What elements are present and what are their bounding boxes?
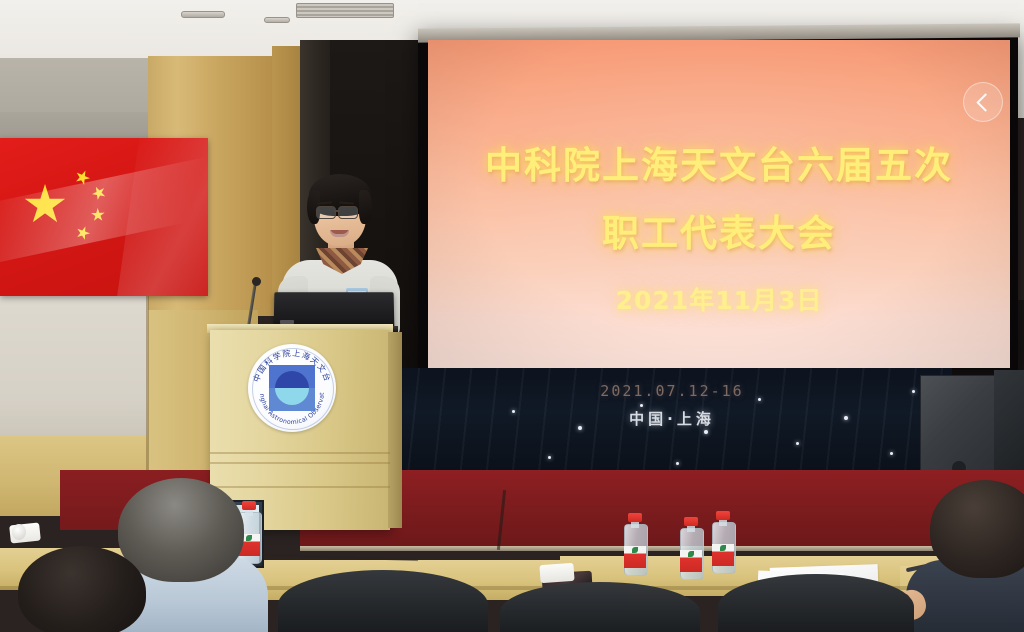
glasses-lens-left-icon: [316, 206, 336, 219]
backdrop-star-icon: [704, 430, 708, 434]
bottle-leaf-icon: [720, 545, 726, 551]
ceiling-vent-icon: [296, 3, 394, 18]
bottle-leaf-icon: [246, 535, 252, 541]
ceiling-light-small-icon: [264, 17, 290, 23]
backdrop-star-icon: [676, 462, 679, 465]
bottle-cap: [628, 513, 642, 522]
podium-groove: [210, 486, 390, 488]
presenter-hair-right: [359, 190, 372, 224]
microphone-head-icon: [252, 277, 261, 286]
backdrop-star-icon: [640, 404, 643, 407]
chair-back: [718, 574, 914, 632]
stage-carpet: [300, 470, 1024, 550]
bottle-cap: [242, 501, 256, 510]
audience-member-head: [118, 478, 244, 582]
conference-photo-scene: 中科院上海天文台六届五次 职工代表大会 2021年11月3日 2021.07.1…: [0, 0, 1024, 632]
glasses-bridge-icon: [334, 210, 340, 212]
audience-member-head: [18, 546, 146, 632]
backdrop-star-icon: [844, 416, 848, 420]
bottle-leaf-icon: [688, 551, 694, 557]
cup: [12, 524, 26, 540]
backdrop-date-text: 2021.07.12-16: [392, 382, 952, 400]
glasses-lens-right-icon: [338, 206, 358, 219]
bottle-cap: [716, 511, 730, 520]
chevron-left-icon: [976, 93, 994, 111]
slide-title-line2: 职工代表大会: [428, 203, 1010, 257]
loudspeaker-cabinet: [920, 375, 998, 477]
chair-back: [278, 570, 488, 632]
podium-side-panel: [388, 332, 402, 528]
backdrop-star-icon: [912, 390, 915, 393]
loudspeaker-cabinet-right: [994, 370, 1024, 480]
water-bottle: [712, 512, 734, 574]
water-bottle: [680, 518, 702, 580]
podium-groove: [210, 462, 390, 464]
china-national-flag: [0, 138, 208, 296]
bottle-leaf-icon: [632, 547, 638, 553]
podium-groove: [210, 452, 390, 454]
slide-date: 2021年11月3日: [428, 281, 1010, 317]
emblem-outer-ring: [252, 348, 334, 430]
bottle-cap: [684, 517, 698, 526]
water-bottle: [624, 514, 646, 576]
tissue-box: [539, 563, 574, 583]
wall-panel-light-lower: [0, 294, 148, 444]
backdrop-star-icon: [548, 456, 551, 459]
backdrop-star-icon: [578, 426, 582, 430]
back-button[interactable]: [963, 82, 1003, 122]
projection-screen: 中科院上海天文台六届五次 职工代表大会 2021年11月3日: [428, 40, 1010, 368]
flag-glare-2: [115, 138, 208, 296]
stage-backdrop-banner: 2021.07.12-16 中国·上海: [392, 368, 952, 478]
backdrop-location-text: 中国·上海: [392, 408, 952, 429]
backdrop-star-icon: [512, 410, 515, 413]
audience-member-head: [930, 480, 1024, 578]
slide-title-line1: 中科院上海天文台六届五次: [428, 135, 1010, 189]
stage-edge: [300, 546, 1024, 551]
backdrop-star-icon: [796, 442, 799, 445]
backdrop-star-icon: [890, 452, 893, 455]
ceiling-light-icon: [181, 11, 225, 18]
backdrop-star-icon: [758, 398, 761, 401]
